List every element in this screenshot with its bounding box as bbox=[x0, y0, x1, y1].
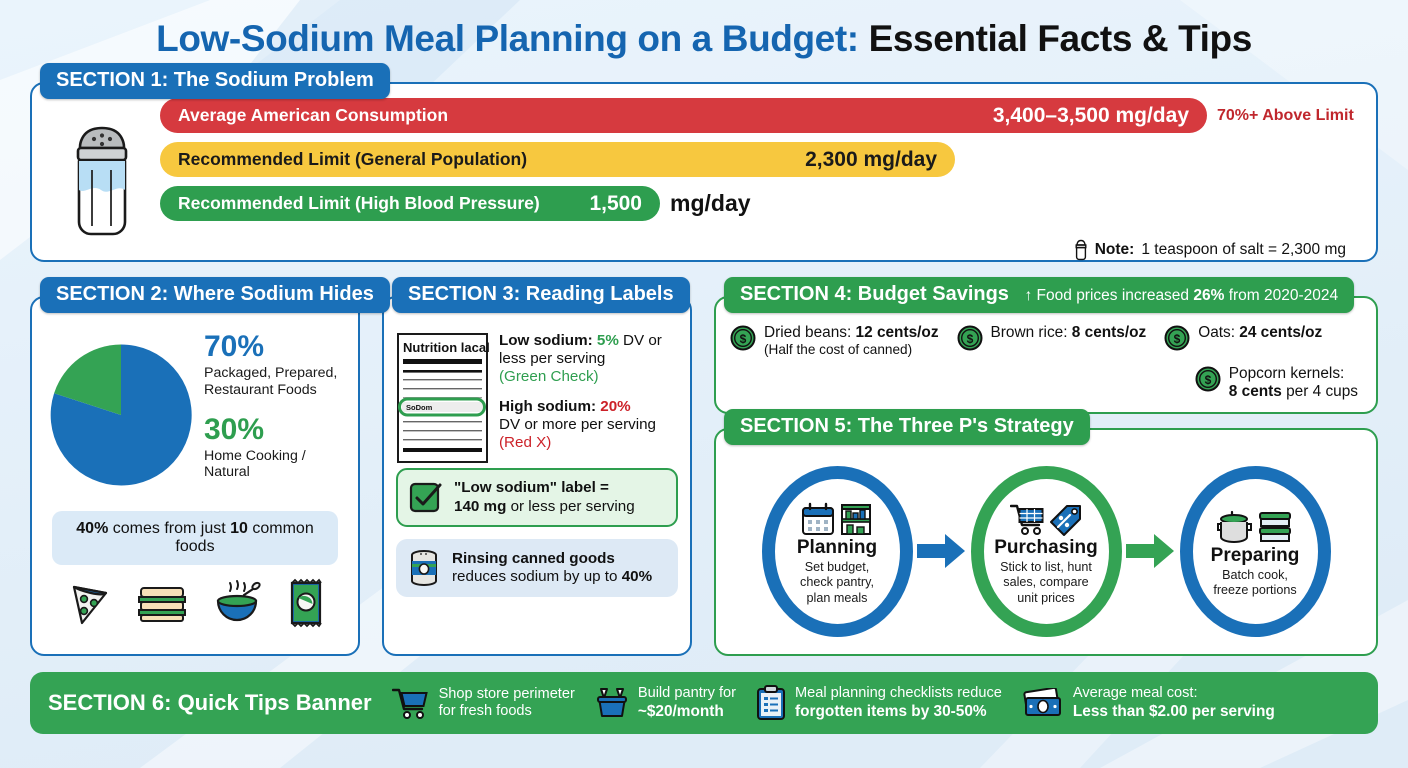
low-sodium-percent: 5% bbox=[597, 332, 619, 349]
page-title-black: Essential Facts & Tips bbox=[869, 18, 1252, 59]
green-box-amount: 140 mg bbox=[454, 498, 506, 515]
low-sodium-lead: Low sodium: bbox=[499, 332, 597, 349]
label-rules-text: Low sodium: 5% DV or less per serving (G… bbox=[499, 332, 678, 464]
section-4-tab: SECTION 4: Budget Savings ↑ Food prices … bbox=[724, 277, 1354, 313]
pizza-icon bbox=[62, 577, 114, 629]
section-2-tab: SECTION 2: Where Sodium Hides bbox=[40, 277, 390, 313]
tip-line1: Build pantry for bbox=[638, 685, 736, 701]
flow-arrow-2 bbox=[1124, 531, 1178, 571]
green-box-line2-tail: or less per serving bbox=[506, 498, 634, 515]
section-4-tab-subtitle: ↑ Food prices increased 26% from 2020-20… bbox=[1025, 287, 1339, 304]
green-box-line1: "Low sodium" label = bbox=[454, 479, 609, 496]
tip-shop-perimeter: Shop store perimeterfor fresh foods bbox=[392, 686, 575, 721]
popcorn-line1: Popcorn kernels: bbox=[1229, 365, 1345, 382]
section-6-banner: SECTION 6: Quick Tips Banner Shop store … bbox=[30, 672, 1378, 734]
step-desc: Batch cook, freeze portions bbox=[1213, 568, 1296, 598]
note-bold: Note: bbox=[1095, 241, 1135, 259]
pie-legend: 70% Packaged, Prepared, Restaurant Foods… bbox=[196, 332, 344, 497]
bar-value: 1,500 bbox=[589, 192, 642, 216]
legend-label: Packaged, Prepared, Restaurant Foods bbox=[204, 365, 344, 399]
price-item-label: Dried beans: bbox=[764, 324, 856, 341]
pie-chart bbox=[46, 340, 196, 490]
bar-label: Recommended Limit (High Blood Pressure) bbox=[178, 193, 540, 214]
sodium-bar-general-limit: Recommended Limit (General Population) 2… bbox=[160, 142, 955, 177]
food-container-icon bbox=[1257, 510, 1293, 544]
low-sodium-rule: Low sodium: 5% DV or less per serving (G… bbox=[499, 332, 678, 387]
high-sodium-percent: 20% bbox=[600, 398, 630, 415]
callout-mid: comes from just bbox=[108, 520, 230, 537]
chip-bag-icon bbox=[284, 577, 328, 629]
price-item-value: 24 cents/oz bbox=[1239, 324, 1322, 341]
tip-average-meal-cost: Average meal cost:Less than $2.00 per se… bbox=[1022, 685, 1275, 721]
svg-text:$: $ bbox=[1204, 373, 1211, 387]
sodium-bars: Average American Consumption 3,400–3,500… bbox=[154, 98, 1358, 261]
shopping-cart-icon bbox=[1010, 502, 1046, 536]
sodium-bar-average: Average American Consumption 3,400–3,500… bbox=[160, 98, 1207, 133]
svg-text:$: $ bbox=[966, 332, 973, 346]
nutrition-label-sodium-row: SoDom bbox=[406, 403, 433, 412]
tip-line1: Shop store perimeter bbox=[439, 686, 575, 702]
infographic-page: Low-Sodium Meal Planning on a Budget: Es… bbox=[0, 0, 1408, 768]
salt-shaker-icon bbox=[50, 98, 154, 240]
step-purchasing: Purchasing Stick to list, hunt sales, co… bbox=[969, 464, 1124, 639]
tip-build-pantry: Build pantry for~$20/month bbox=[595, 685, 736, 721]
section-4-panel: SECTION 4: Budget Savings ↑ Food prices … bbox=[714, 296, 1378, 414]
step-desc: Stick to list, hunt sales, compare unit … bbox=[1000, 560, 1092, 605]
three-ps-flow: Planning Set budget, check pantry, plan … bbox=[730, 458, 1362, 644]
bar-after-note: 70%+ Above Limit bbox=[1217, 107, 1354, 125]
blue-box-percent: 40% bbox=[622, 568, 652, 585]
section-3-panel: SECTION 3: Reading Labels Nutrition laca… bbox=[382, 296, 692, 656]
dollar-coin-icon: $ bbox=[957, 325, 983, 351]
price-item-dried-beans: $ Dried beans: 12 cents/oz (Half the cos… bbox=[730, 324, 939, 359]
dollar-coin-icon: $ bbox=[730, 325, 756, 351]
section-5-tab: SECTION 5: The Three P's Strategy bbox=[724, 409, 1090, 445]
grocery-basket-icon bbox=[595, 686, 629, 720]
page-title: Low-Sodium Meal Planning on a Budget: Es… bbox=[30, 0, 1378, 70]
tip-meal-checklists: Meal planning checklists reduceforgotten… bbox=[756, 685, 1002, 721]
dollar-coin-icon: $ bbox=[1195, 366, 1221, 392]
legend-label: Home Cooking / Natural bbox=[204, 448, 344, 482]
step-name: Planning bbox=[797, 538, 877, 557]
legend-item-home: 30% Home Cooking / Natural bbox=[204, 415, 344, 482]
svg-text:$: $ bbox=[740, 332, 747, 346]
high-sodium-rule: High sodium: 20% DV or more per serving … bbox=[499, 398, 678, 453]
tip-line2: for fresh foods bbox=[439, 703, 532, 719]
cooking-pot-icon bbox=[1217, 510, 1253, 544]
sandwich-icon bbox=[134, 579, 190, 627]
legend-value: 70% bbox=[204, 332, 344, 362]
sodium-bar-row-3: Recommended Limit (High Blood Pressure) … bbox=[160, 186, 1358, 221]
blue-box-line2: reduces sodium by up to bbox=[452, 568, 622, 585]
bar-label: Recommended Limit (General Population) bbox=[178, 149, 527, 170]
step-desc: Set budget, check pantry, plan meals bbox=[800, 560, 874, 605]
note-text: 1 teaspoon of salt = 2,300 mg bbox=[1141, 241, 1346, 259]
legend-value: 30% bbox=[204, 415, 344, 445]
price-item-label: Oats: bbox=[1198, 324, 1239, 341]
soup-bowl-icon bbox=[210, 577, 264, 629]
nutrition-label-title: Nutrition lacal bbox=[403, 340, 489, 355]
bar-value: 2,300 mg/day bbox=[805, 148, 937, 172]
tip-line1: Meal planning checklists reduce bbox=[795, 685, 1002, 701]
calendar-icon bbox=[801, 502, 835, 536]
food-prices-post: from 2020-2024 bbox=[1224, 287, 1338, 304]
tip-line2: forgotten items by 30-50% bbox=[795, 703, 987, 720]
step-preparing: Preparing Batch cook, freeze portions bbox=[1178, 464, 1333, 639]
clipboard-checklist-icon bbox=[756, 685, 786, 721]
section-1-tab: SECTION 1: The Sodium Problem bbox=[40, 63, 390, 99]
section-5-panel: SECTION 5: The Three P's Strategy bbox=[714, 428, 1378, 656]
dollar-coin-icon: $ bbox=[1164, 325, 1190, 351]
tip-line2: Less than $2.00 per serving bbox=[1073, 703, 1275, 720]
green-check-icon bbox=[409, 481, 443, 515]
section-1-note: Note: 1 teaspoon of salt = 2,300 mg bbox=[160, 239, 1358, 261]
sodium-bar-row-2: Recommended Limit (General Population) 2… bbox=[160, 142, 1358, 177]
section-6-title: SECTION 6: Quick Tips Banner bbox=[48, 690, 372, 716]
nutrition-label-illustration: Nutrition lacal SoDom bbox=[396, 332, 489, 464]
price-item-value: 8 cents/oz bbox=[1072, 324, 1146, 341]
legend-item-packaged: 70% Packaged, Prepared, Restaurant Foods bbox=[204, 332, 344, 399]
tip-line1: Average meal cost: bbox=[1073, 685, 1198, 701]
food-prices-pre: ↑ Food prices increased bbox=[1025, 287, 1194, 304]
popcorn-tail: per 4 cups bbox=[1282, 383, 1358, 400]
sodium-bar-hbp-limit: Recommended Limit (High Blood Pressure) … bbox=[160, 186, 660, 221]
bar-value: 3,400–3,500 mg/day bbox=[993, 104, 1189, 128]
section-3-tab: SECTION 3: Reading Labels bbox=[392, 277, 690, 313]
price-item-label: Brown rice: bbox=[991, 324, 1072, 341]
food-prices-percent: 26% bbox=[1193, 287, 1224, 304]
pantry-shelf-icon bbox=[839, 502, 873, 536]
bar-label: Average American Consumption bbox=[178, 105, 448, 126]
sodium-bar-row-1: Average American Consumption 3,400–3,500… bbox=[160, 98, 1358, 133]
common-foods-callout: 40% comes from just 10 common foods bbox=[52, 511, 338, 565]
high-sodium-lead: High sodium: bbox=[499, 398, 600, 415]
low-sodium-definition-box: "Low sodium" label = 140 mg or less per … bbox=[396, 468, 678, 527]
high-sodium-note: (Red X) bbox=[499, 434, 551, 451]
sodium-sources-chart: 70% Packaged, Prepared, Restaurant Foods… bbox=[46, 332, 344, 497]
blue-box-line1: Rinsing canned goods bbox=[452, 550, 615, 567]
cash-money-icon bbox=[1022, 688, 1064, 718]
price-item-sub: (Half the cost of canned) bbox=[764, 342, 939, 358]
page-title-blue: Low-Sodium Meal Planning on a Budget: bbox=[156, 18, 859, 59]
common-food-icons bbox=[46, 577, 344, 629]
section-2-panel: SECTION 2: Where Sodium Hides 70% Packag… bbox=[30, 296, 360, 656]
popcorn-value: 8 cents bbox=[1229, 383, 1282, 400]
price-item-oats: $ Oats: 24 cents/oz bbox=[1164, 324, 1322, 351]
high-sodium-tail: DV or more per serving bbox=[499, 416, 656, 433]
callout-count: 10 bbox=[230, 520, 248, 537]
svg-text:$: $ bbox=[1174, 332, 1181, 346]
step-name: Preparing bbox=[1211, 546, 1300, 565]
callout-percent: 40% bbox=[76, 520, 108, 537]
budget-price-items: $ Dried beans: 12 cents/oz (Half the cos… bbox=[730, 324, 1362, 359]
step-name: Purchasing bbox=[994, 538, 1097, 557]
canned-goods-icon bbox=[407, 548, 441, 588]
small-salt-icon bbox=[1074, 239, 1088, 261]
shopping-cart-icon bbox=[392, 686, 430, 720]
step-planning: Planning Set budget, check pantry, plan … bbox=[760, 464, 915, 639]
section-4-tab-title: SECTION 4: Budget Savings bbox=[740, 283, 1009, 305]
low-sodium-note: (Green Check) bbox=[499, 368, 599, 385]
tip-line2: ~$20/month bbox=[638, 703, 724, 720]
price-item-brown-rice: $ Brown rice: 8 cents/oz bbox=[957, 324, 1147, 351]
rinsing-tip-box: Rinsing canned goods reduces sodium by u… bbox=[396, 539, 678, 597]
section-1-panel: SECTION 1: The Sodium Problem Aver bbox=[30, 82, 1378, 262]
price-item-value: 12 cents/oz bbox=[856, 324, 939, 341]
price-item-popcorn: $ Popcorn kernels: 8 cents per 4 cups bbox=[1195, 365, 1358, 402]
flow-arrow-1 bbox=[915, 531, 969, 571]
bar-after-unit: mg/day bbox=[670, 190, 751, 217]
price-tag-icon bbox=[1050, 504, 1082, 536]
price-item-popcorn-wrap: $ Popcorn kernels: 8 cents per 4 cups bbox=[730, 365, 1362, 402]
